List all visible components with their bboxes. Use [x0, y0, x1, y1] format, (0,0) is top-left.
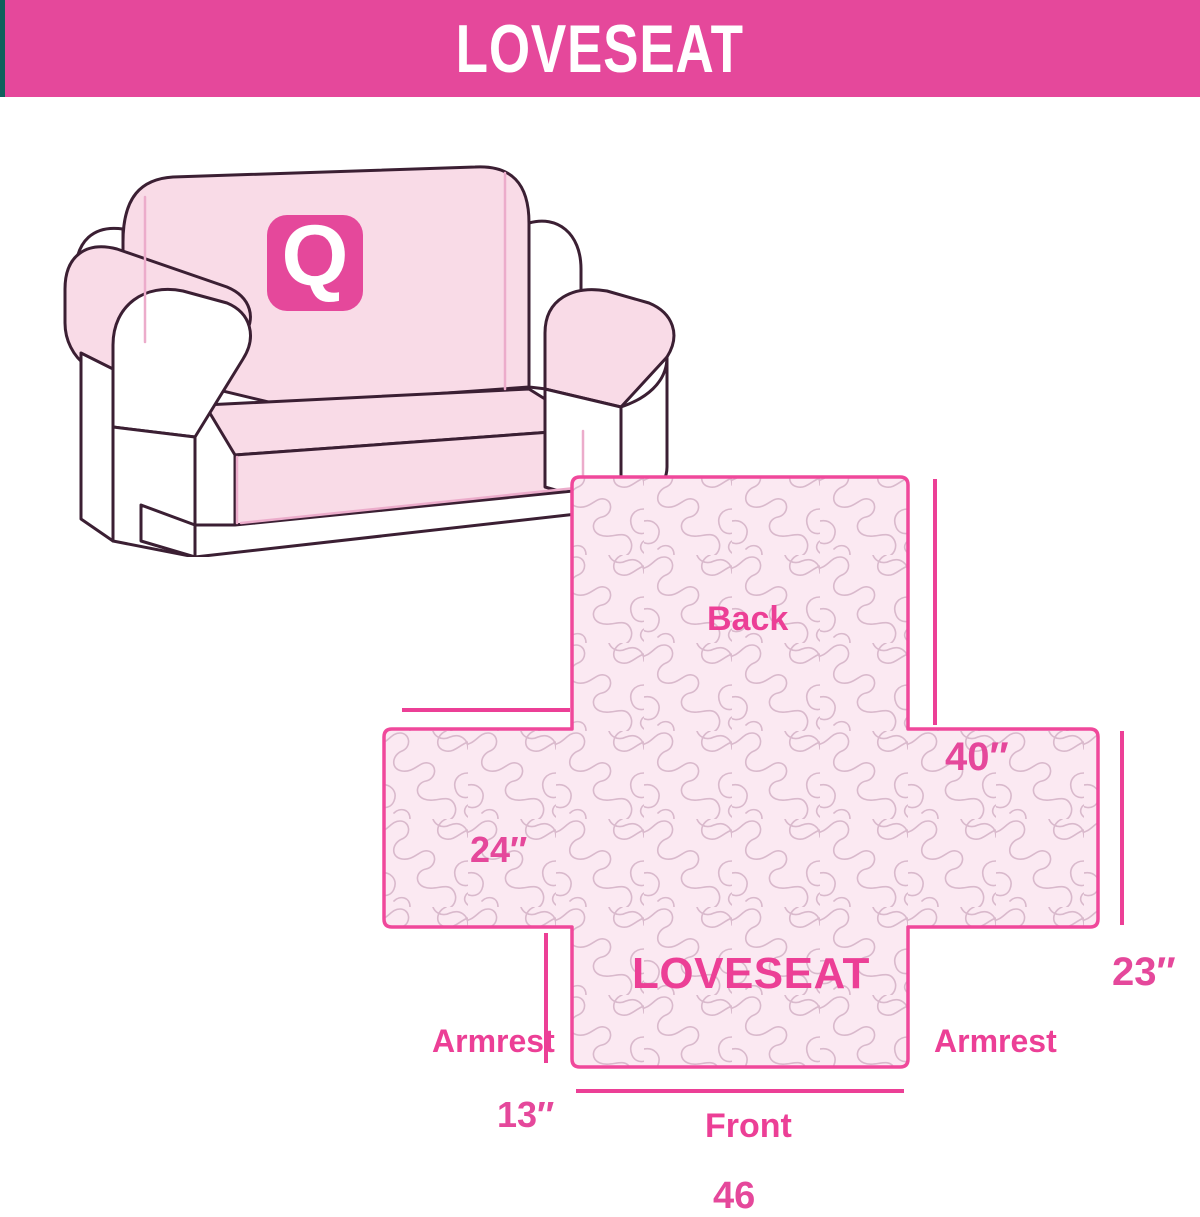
brand-logo-badge: Q — [267, 208, 363, 311]
panel-label-center: LOVESEAT — [632, 952, 870, 996]
diagram-stage: Q — [0, 97, 1200, 1200]
dimension-label-back-height: 40″ — [945, 737, 1009, 777]
panel-label-armrest-right: Armrest — [934, 1025, 1057, 1057]
svg-text:Q: Q — [282, 208, 349, 304]
dimension-label-armrest-height: 23″ — [1112, 952, 1176, 992]
page-title: LOVESEAT — [456, 15, 744, 83]
banner-edge-stripe — [0, 0, 5, 97]
dimension-label-total-width: 46 — [713, 1177, 755, 1215]
panel-label-back: Back — [707, 602, 788, 636]
dimension-label-front-height: 13″ — [497, 1097, 554, 1133]
panel-label-front: Front — [705, 1109, 792, 1143]
page-header-banner: LOVESEAT — [0, 0, 1200, 97]
dimension-label-back-width: 24″ — [470, 832, 527, 868]
panel-label-armrest-left: Armrest — [432, 1025, 555, 1057]
